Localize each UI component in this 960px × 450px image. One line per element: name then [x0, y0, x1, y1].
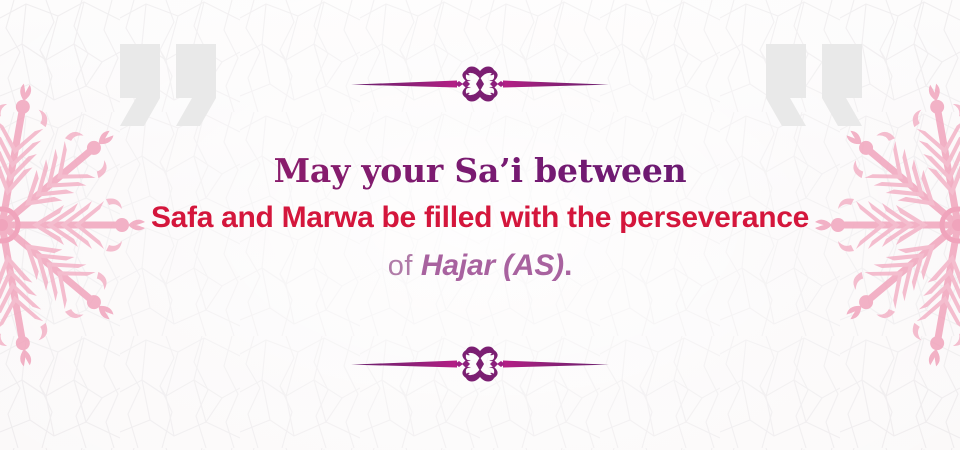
- ornament-divider-top: [345, 64, 615, 104]
- quote-line-3: ofHajar (AS).: [0, 246, 960, 291]
- quote-line-3-name: Hajar (AS): [421, 249, 564, 282]
- quote-line-1: May your Sa’i between: [0, 150, 960, 192]
- quote-line-3-period: .: [564, 249, 572, 282]
- quote-poster: May your Sa’i between Safa and Marwa be …: [0, 0, 960, 450]
- quote-text-block: May your Sa’i between Safa and Marwa be …: [0, 150, 960, 291]
- ornament-divider-bottom: [345, 344, 615, 384]
- quote-line-3-prefix: of: [388, 250, 413, 282]
- quote-line-2: Safa and Marwa be filled with the persev…: [0, 198, 960, 238]
